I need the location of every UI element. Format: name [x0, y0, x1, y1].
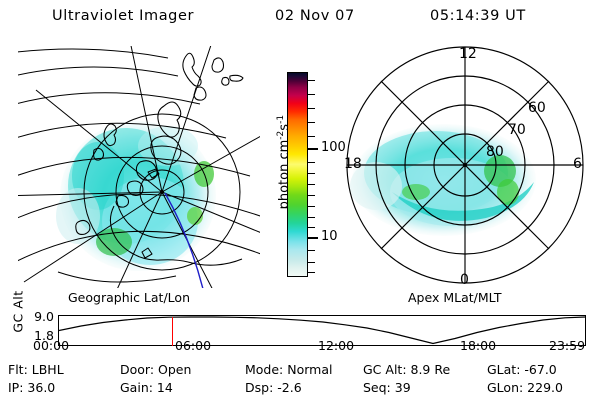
instrument-title: Ultraviolet Imager: [52, 8, 194, 24]
magnetic-pole-marker: [463, 163, 467, 167]
status-dsp: Dsp: -2.6: [245, 380, 302, 395]
colorbar-tick: [308, 250, 315, 251]
colorbar-tick: [308, 136, 315, 137]
header-bar: Ultraviolet Imager 02 Nov 07 05:14:39 UT: [0, 8, 600, 30]
colorbar-unit-exp1: -2: [276, 131, 286, 140]
status-seq: Seq: 39: [363, 380, 411, 395]
colorbar-tick: [308, 217, 315, 218]
mlt-label-0: 0: [460, 272, 469, 288]
colorbar-tick: [308, 80, 315, 81]
mlat-label-80: 80: [486, 144, 504, 160]
status-filter: Flt: LBHL: [8, 362, 64, 377]
apex-polar-svg: 12 18 6 0 60 70 80: [340, 40, 598, 292]
colorbar-tick-major: [308, 148, 318, 150]
colorbar-tick: [308, 272, 315, 273]
colorbar-label-10: 10: [321, 229, 338, 244]
colorbar-tick: [308, 227, 315, 228]
aurora-oval-region: [350, 124, 536, 236]
orbit-x-tick-1800: 18:00: [460, 338, 496, 353]
orbit-x-tick-0000: 00:00: [33, 338, 69, 353]
status-mode: Mode: Normal: [245, 362, 332, 377]
colorbar-tick: [308, 108, 315, 109]
colorbar-gradient: [287, 72, 308, 277]
status-door: Door: Open: [120, 362, 191, 377]
status-ip: IP: 36.0: [8, 380, 55, 395]
colorbar-tick: [308, 162, 315, 163]
status-gc-alt: GC Alt: 8.9 Re: [363, 362, 450, 377]
observation-date: 02 Nov 07: [275, 8, 355, 24]
colorbar-tick: [308, 173, 315, 174]
status-block: Flt: LBHL Door: Open Mode: Normal GC Alt…: [0, 362, 600, 400]
mlt-label-12: 12: [459, 46, 477, 62]
colorbar-unit-exp2: -1: [276, 115, 286, 124]
orbit-x-tick-1200: 12:00: [318, 338, 354, 353]
apex-polar-panel: 12 18 6 0 60 70 80: [340, 40, 598, 292]
colorbar-tick: [308, 94, 315, 95]
mlt-label-6: 6: [573, 156, 582, 172]
status-gain: Gain: 14: [120, 380, 173, 395]
mlat-label-60: 60: [528, 100, 546, 116]
ultraviolet-imager-display: Ultraviolet Imager 02 Nov 07 05:14:39 UT: [0, 0, 600, 400]
observation-time: 05:14:39 UT: [430, 8, 526, 24]
orbit-altitude-plot: GC Alt 9.0 1.8 00:00 06:00 12:00 18:00 2…: [0, 300, 600, 356]
colorbar-tick: [308, 122, 315, 123]
orbit-time-cursor[interactable]: [172, 317, 173, 346]
mlt-label-18: 18: [344, 156, 362, 172]
orbit-x-tick-2359: 23:59: [549, 338, 585, 353]
colorbar-tick: [308, 184, 315, 185]
colorbar-tick: [308, 262, 315, 263]
status-glon: GLon: 229.0: [487, 380, 563, 395]
pole-marker: [160, 190, 164, 194]
geographic-map-panel: [18, 46, 260, 288]
orbit-y-tick-max: 9.0: [20, 309, 54, 324]
colorbar-tick: [308, 195, 315, 196]
colorbar-tick-major: [308, 237, 318, 239]
colorbar-tick: [308, 206, 315, 207]
status-glat: GLat: -67.0: [487, 362, 557, 377]
geographic-map-svg: [18, 46, 260, 288]
orbit-x-tick-0600: 06:00: [175, 338, 211, 353]
mlat-label-70: 70: [508, 122, 526, 138]
colorbar-panel: photon cm-2s-1 100 10: [262, 60, 342, 290]
